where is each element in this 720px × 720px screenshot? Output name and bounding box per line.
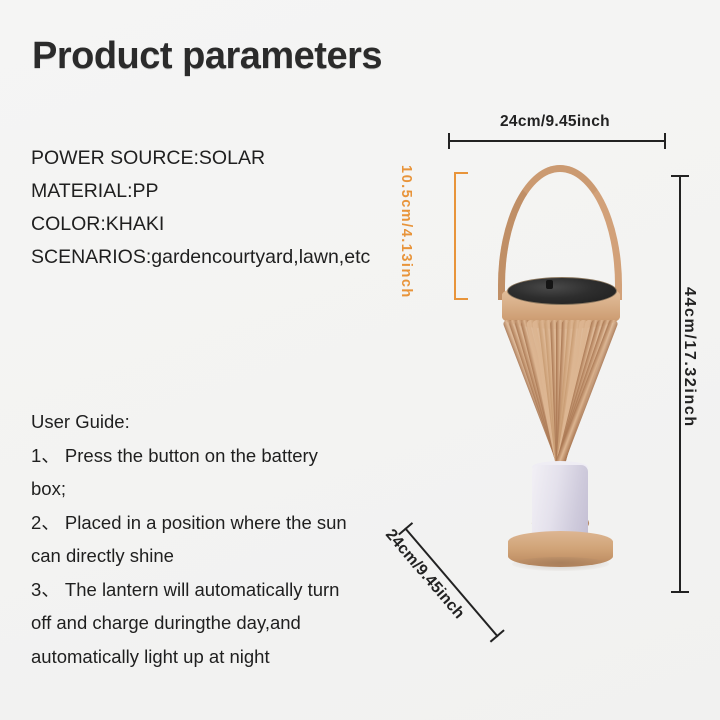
- solar-panel: [507, 277, 617, 305]
- dimension-label-top: 24cm/9.45inch: [500, 113, 610, 131]
- user-guide-line: can directly shine: [31, 539, 381, 573]
- user-guide-line: off and charge duringthe day,and: [31, 606, 381, 640]
- spec-material: MATERIAL:PP: [31, 175, 411, 208]
- user-guide-line: 2、 Placed in a position where the sun: [31, 506, 381, 540]
- spec-scenarios: SCENARIOS:gardencourtyard,lawn,etc: [31, 241, 411, 274]
- product-image-area: 24cm/9.45inch 10.5cm/4.13inch 44cm/17.32…: [400, 95, 720, 635]
- power-button-icon: [546, 280, 553, 289]
- user-guide-block: User Guide: 1、 Press the button on the b…: [31, 405, 381, 673]
- spec-color: COLOR:KHAKI: [31, 208, 411, 241]
- user-guide-line: 3、 The lantern will automatically turn: [31, 573, 381, 607]
- user-guide-line: 1、 Press the button on the battery: [31, 439, 381, 473]
- specification-list: POWER SOURCE:SOLAR MATERIAL:PP COLOR:KHA…: [31, 142, 411, 274]
- page-title: Product parameters: [32, 35, 382, 78]
- user-guide-line: box;: [31, 472, 381, 506]
- dimension-label-height: 44cm/17.32inch: [680, 287, 698, 428]
- product-parameters-page: Product parameters POWER SOURCE:SOLAR MA…: [0, 0, 720, 720]
- user-guide-heading: User Guide:: [31, 405, 381, 439]
- dimension-line-top: [448, 140, 666, 142]
- lantern-shadow: [512, 557, 609, 571]
- spec-power-source: POWER SOURCE:SOLAR: [31, 142, 411, 175]
- user-guide-line: automatically light up at night: [31, 640, 381, 674]
- dimension-label-handle: 10.5cm/4.13inch: [398, 165, 414, 305]
- solar-lantern-image: [460, 165, 660, 595]
- dimension-label-base: 24cm/9.45inch: [381, 526, 467, 623]
